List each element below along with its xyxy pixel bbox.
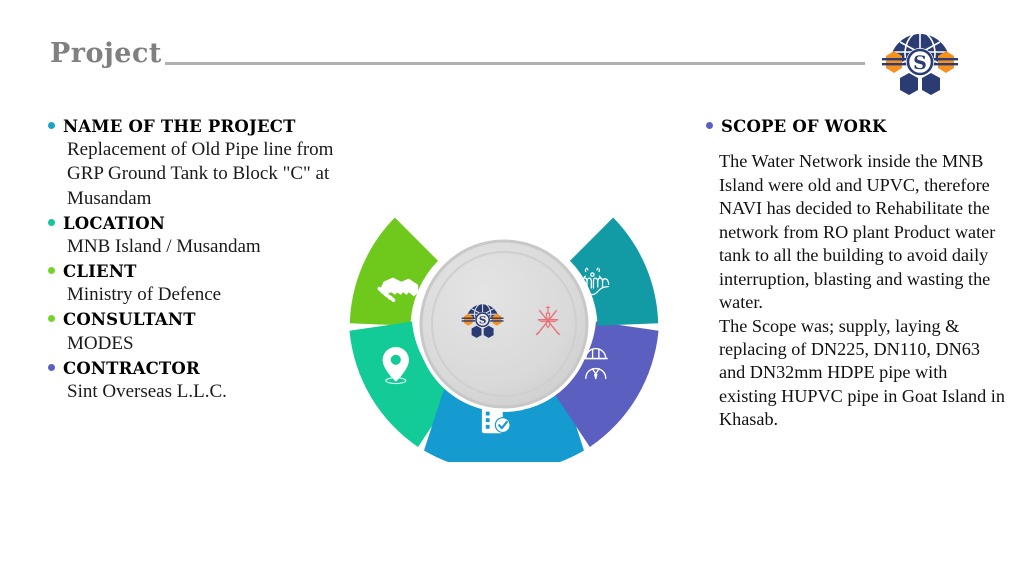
detail-value: MODES [67,332,338,356]
scope-label: SCOPE OF WORK [721,116,887,138]
bullet-dot-icon [706,122,713,129]
detail-label: CONTRACTOR [63,358,200,380]
list-item: LOCATION MNB Island / Musandam [48,213,338,259]
detail-heading: CONTRACTOR [48,358,338,380]
detail-heading: NAME OF THE PROJECT [48,116,338,138]
scope-body: The Water Network inside the MNB Island … [719,150,1006,432]
project-details-list: NAME OF THE PROJECT Replacement of Old P… [48,116,338,406]
scope-paragraph: The Water Network inside the MNB Island … [719,150,1006,314]
scope-of-work-section: SCOPE OF WORK The Water Network inside t… [706,116,1006,432]
title-divider [165,62,865,65]
bullet-dot-icon [48,315,55,322]
detail-label: NAME OF THE PROJECT [63,116,296,138]
detail-heading: CONSULTANT [48,309,338,331]
detail-value: Ministry of Defence [67,283,338,307]
detail-value: MNB Island / Musandam [67,235,338,259]
list-item: CONSULTANT MODES [48,309,338,355]
scope-paragraph: The Scope was; supply, laying & replacin… [719,315,1006,432]
list-item: CLIENT Ministry of Defence [48,261,338,307]
scope-heading: SCOPE OF WORK [706,116,1006,138]
slide-header: Project S [0,0,1024,100]
detail-label: CONSULTANT [63,309,196,331]
svg-text:S: S [479,315,487,327]
bullet-dot-icon [48,267,55,274]
list-item: NAME OF THE PROJECT Replacement of Old P… [48,116,338,211]
detail-label: CLIENT [63,261,137,283]
detail-heading: CLIENT [48,261,338,283]
detail-value: Replacement of Old Pipe line from GRP Gr… [67,138,338,210]
bullet-dot-icon [48,364,55,371]
list-item: CONTRACTOR Sint Overseas L.L.C. [48,358,338,404]
process-wheel-diagram: S [312,162,696,462]
detail-value: Sint Overseas L.L.C. [67,380,338,404]
detail-heading: LOCATION [48,213,338,235]
wheel-center-disc [421,241,587,407]
sint-overseas-logo-icon: S [868,8,972,108]
bullet-dot-icon [48,219,55,226]
svg-text:S: S [913,52,927,74]
page-title: Project [50,38,162,69]
detail-label: LOCATION [63,213,165,235]
bullet-dot-icon [48,122,55,129]
